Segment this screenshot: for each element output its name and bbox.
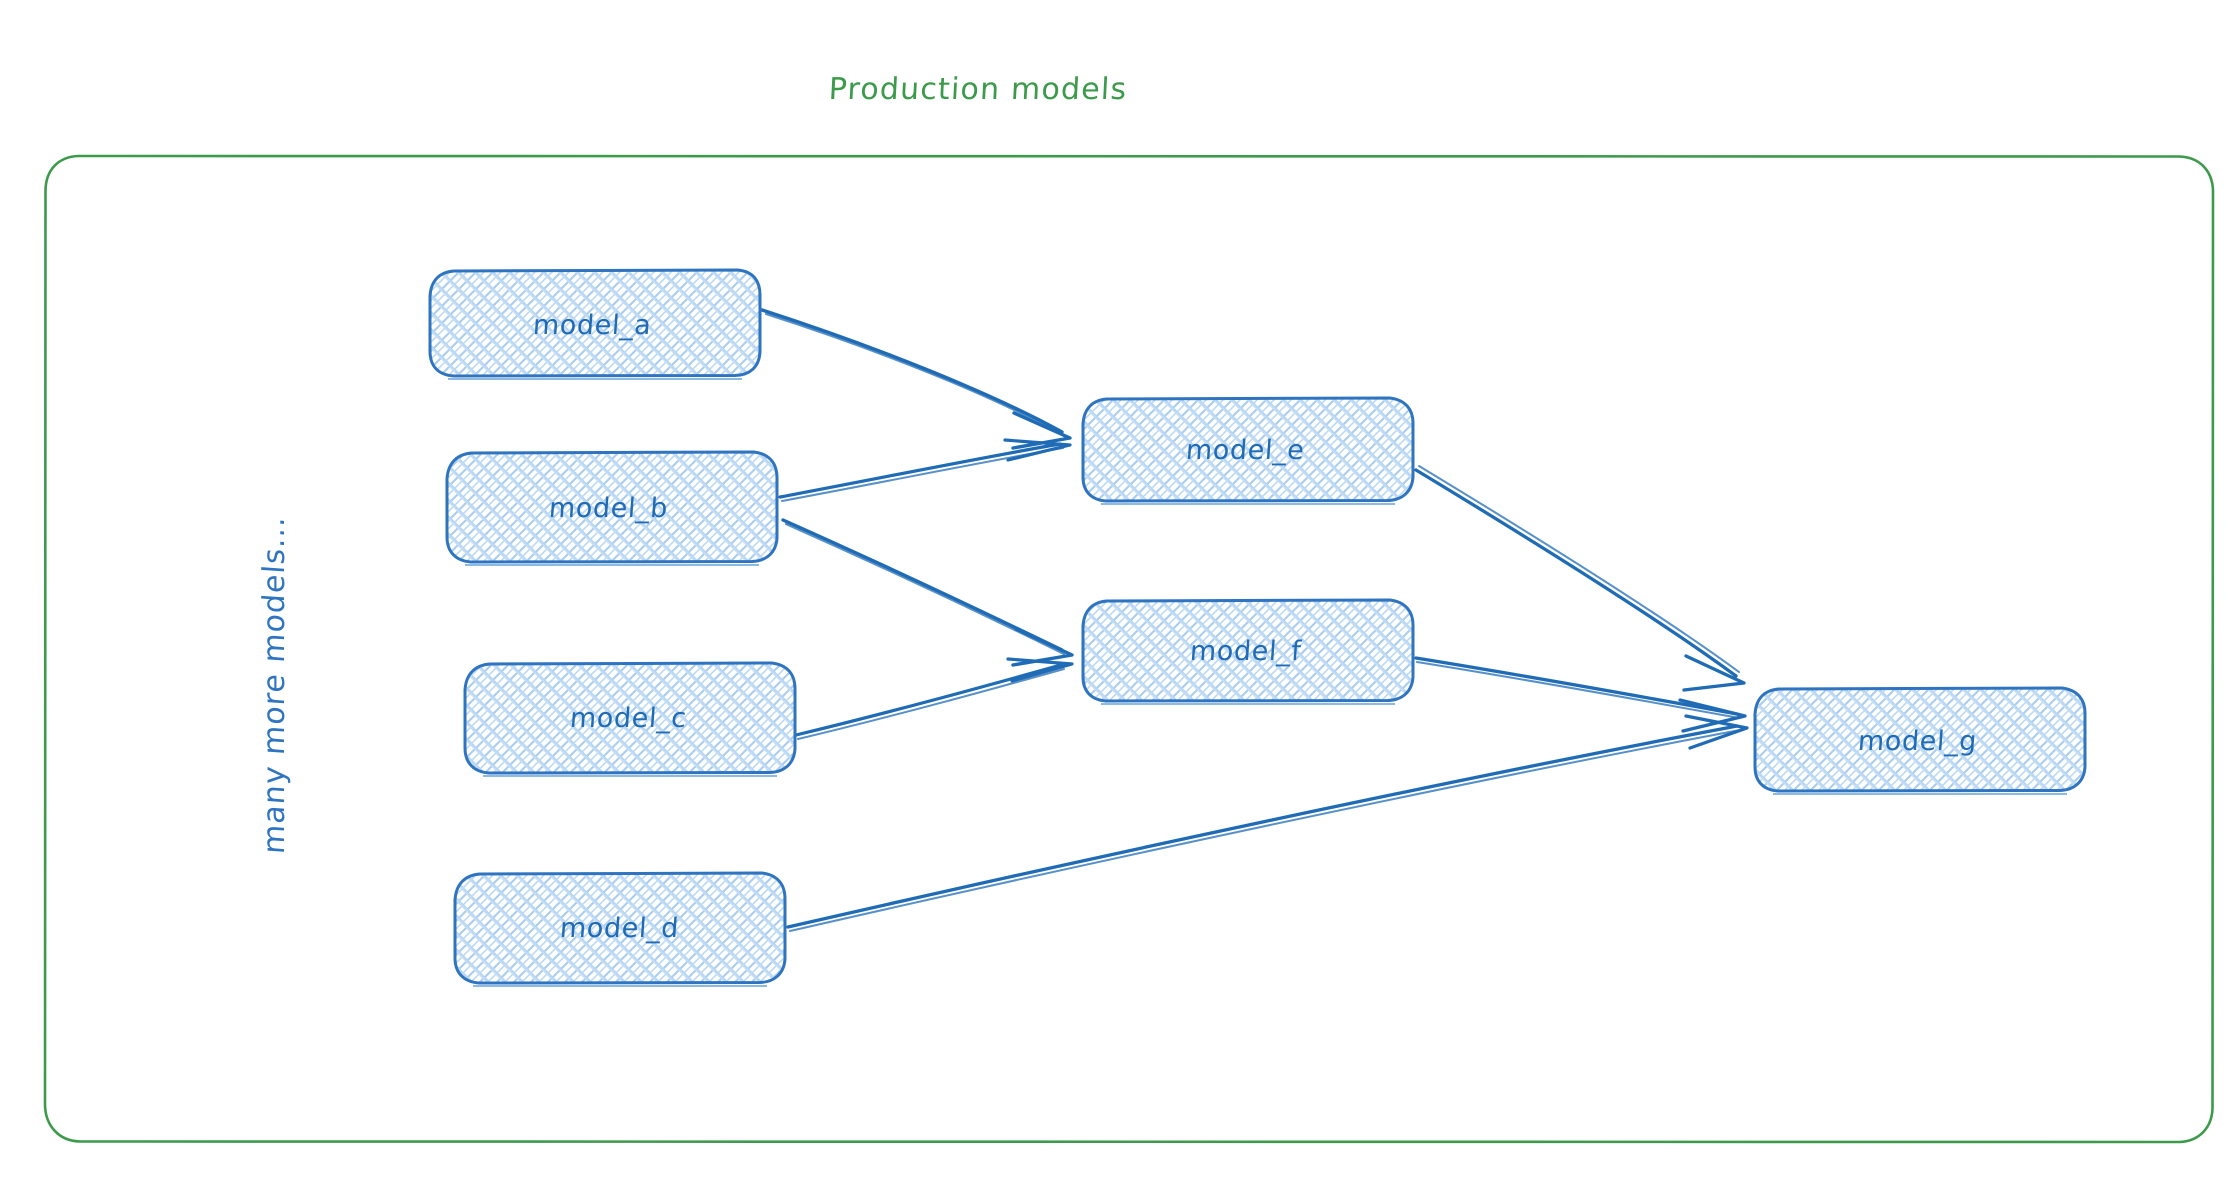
diagram-canvas: Production models many more models... mo… — [0, 0, 2240, 1188]
node-model_g[interactable] — [1755, 688, 2085, 794]
node-layer — [430, 270, 2085, 986]
edge-model_b-model_e — [780, 440, 1070, 501]
diagram-title: Production models — [0, 72, 2099, 107]
node-model_a[interactable] — [430, 270, 760, 379]
edge-model_d-model_g — [788, 716, 1747, 931]
edge-model_b-model_f — [783, 520, 1072, 665]
node-model_c[interactable] — [465, 663, 795, 776]
edge-model_e-model_g — [1416, 466, 1744, 690]
node-model_d[interactable] — [455, 873, 785, 986]
edge-model_a-model_e — [762, 310, 1070, 448]
diagram-svg — [0, 0, 2240, 1188]
edge-model_f-model_g — [1416, 658, 1745, 731]
edge-model_c-model_f — [796, 659, 1072, 739]
node-model_f[interactable] — [1083, 600, 1413, 704]
node-model_e[interactable] — [1083, 398, 1413, 504]
node-model_b[interactable] — [447, 452, 777, 565]
